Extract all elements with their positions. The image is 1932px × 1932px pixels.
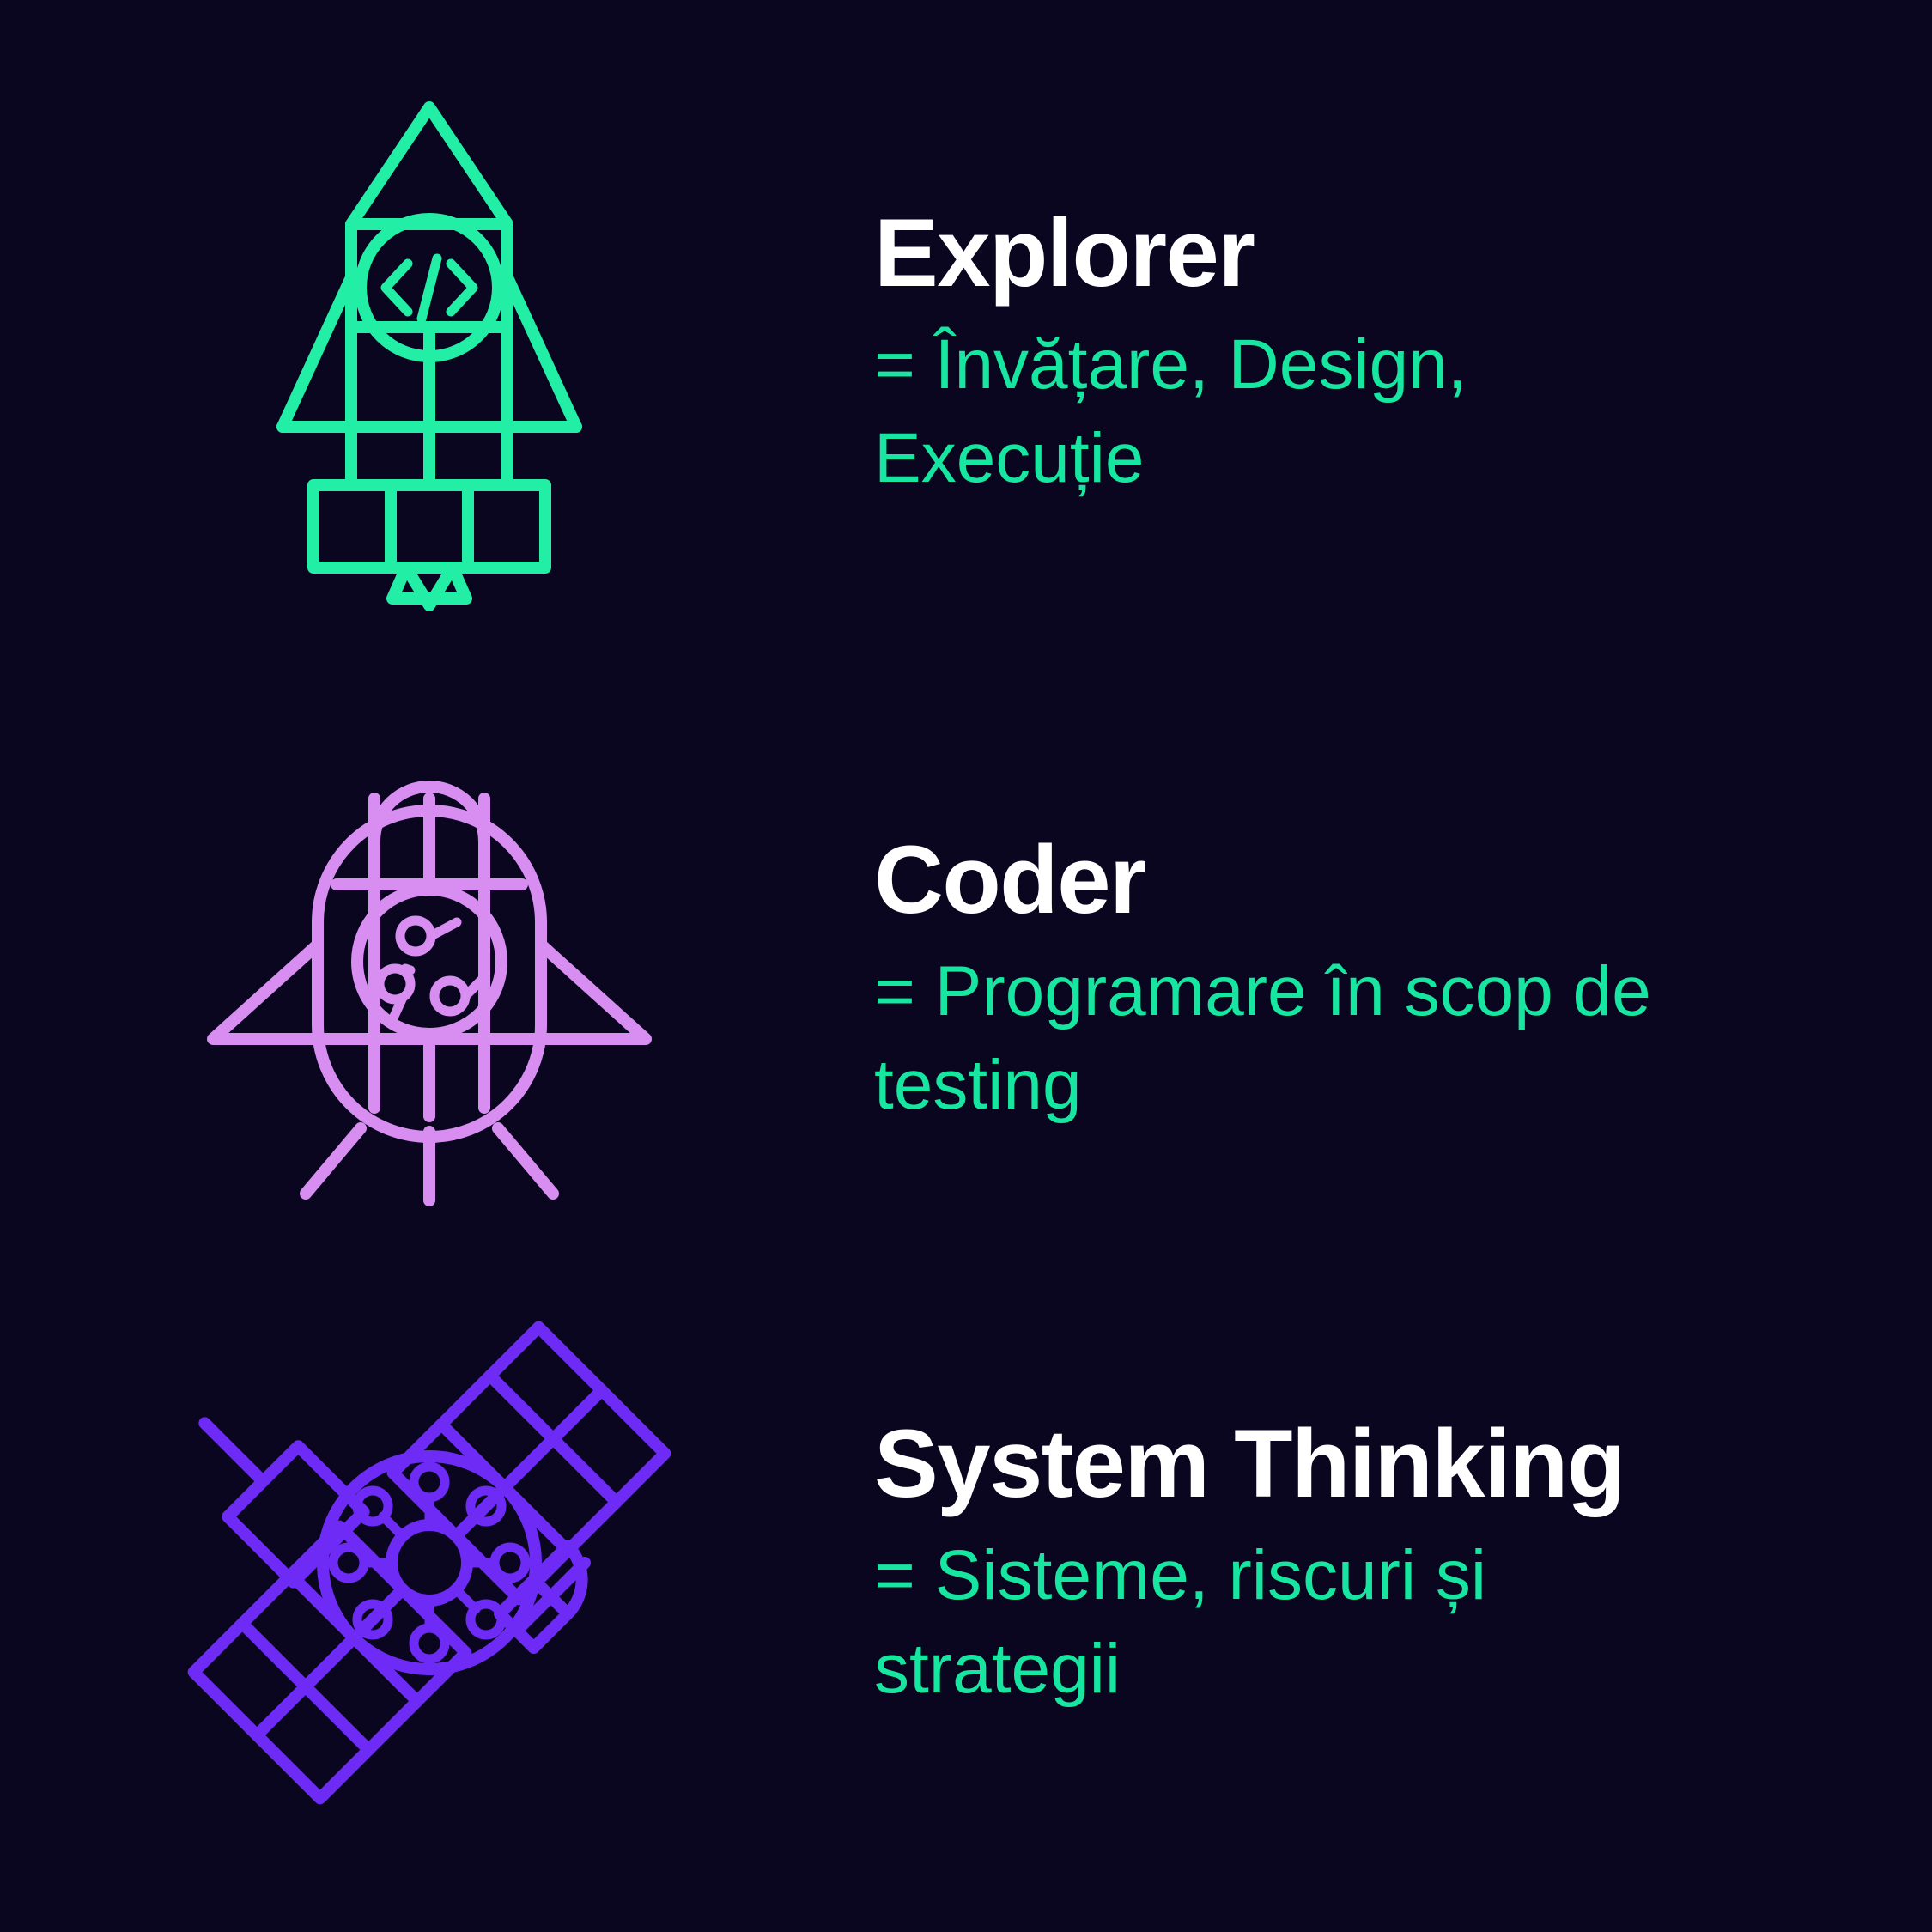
text-cell-coder: Coder = Programare în scop de testing — [859, 713, 1932, 1245]
role-description-system-thinking: = Sisteme, riscuri și strategii — [874, 1529, 1750, 1715]
ufo-circuit-icon — [189, 764, 670, 1194]
icon-cell-system-thinking — [0, 1279, 859, 1846]
role-description-coder: = Programare în scop de testing — [874, 945, 1750, 1131]
text-cell-explorer: Explorer = Învățare, Design, Execuție — [859, 52, 1932, 653]
role-description-explorer: = Învățare, Design, Execuție — [874, 319, 1750, 504]
icon-cell-explorer — [0, 52, 859, 653]
role-title-explorer: Explorer — [874, 199, 1932, 307]
icon-cell-coder — [0, 713, 859, 1245]
rocket-code-icon — [245, 90, 614, 614]
role-row-coder: Coder = Programare în scop de testing — [0, 713, 1932, 1245]
text-cell-system-thinking: System Thinking = Sisteme, riscuri și st… — [859, 1279, 1932, 1846]
satellite-icon — [155, 1288, 704, 1838]
role-title-coder: Coder — [874, 826, 1932, 933]
role-row-system-thinking: System Thinking = Sisteme, riscuri și st… — [0, 1279, 1932, 1846]
infographic-canvas: Explorer = Învățare, Design, Execuție — [0, 0, 1932, 1932]
role-row-explorer: Explorer = Învățare, Design, Execuție — [0, 52, 1932, 653]
role-title-system-thinking: System Thinking — [874, 1410, 1932, 1517]
